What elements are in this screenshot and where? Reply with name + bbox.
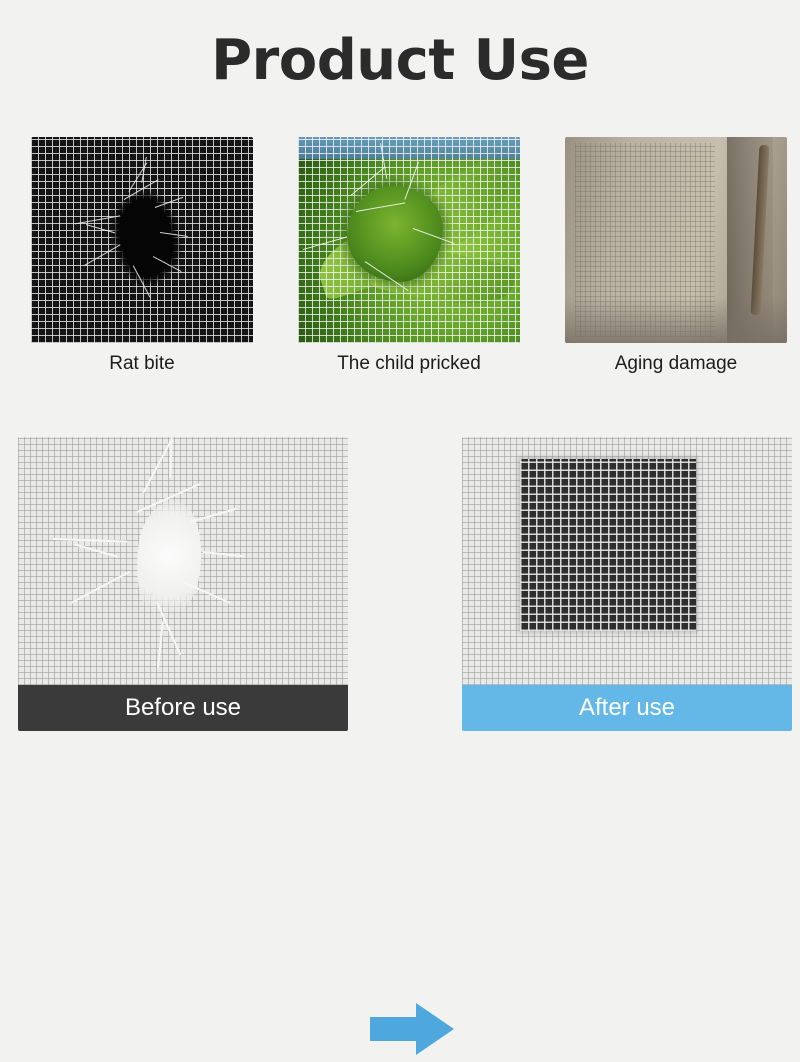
before-use-card: Before use bbox=[18, 437, 348, 731]
torn-hole-shape bbox=[131, 498, 207, 624]
product-use-infographic: Product Use Rat bite bbox=[0, 0, 800, 800]
rat-bite-photo bbox=[31, 137, 253, 343]
damage-examples-row: Rat bite bbox=[31, 137, 769, 407]
aged-screen-texture bbox=[565, 137, 787, 343]
before-use-label: Before use bbox=[125, 694, 241, 722]
caption-aging-damage: Aging damage bbox=[565, 353, 787, 375]
blurred-bottom-edge bbox=[565, 297, 787, 343]
green-plant-background bbox=[298, 137, 520, 343]
child-pricked-photo bbox=[298, 137, 520, 343]
aging-damage-photo bbox=[565, 137, 787, 343]
damage-example-child-pricked: The child pricked bbox=[298, 137, 520, 375]
damage-example-aging: Aging damage bbox=[565, 137, 787, 375]
white-mesh-texture bbox=[462, 437, 792, 685]
right-arrow-icon bbox=[370, 1001, 454, 1057]
damage-example-rat-bite: Rat bite bbox=[31, 137, 253, 375]
torn-hole-shape bbox=[115, 196, 177, 280]
before-after-comparison: Before use After use bbox=[18, 437, 782, 737]
page-title: Product Use bbox=[0, 28, 800, 93]
before-use-label-bar: Before use bbox=[18, 685, 348, 731]
after-use-label-bar: After use bbox=[462, 685, 792, 731]
after-use-label: After use bbox=[579, 694, 675, 722]
after-use-card: After use bbox=[462, 437, 792, 731]
white-mesh-texture bbox=[18, 437, 348, 685]
caption-child-pricked: The child pricked bbox=[298, 353, 520, 375]
repair-patch bbox=[520, 459, 696, 631]
after-use-photo bbox=[462, 437, 792, 685]
before-use-photo bbox=[18, 437, 348, 685]
caption-rat-bite: Rat bite bbox=[31, 353, 253, 375]
dark-mesh-texture bbox=[31, 137, 253, 343]
